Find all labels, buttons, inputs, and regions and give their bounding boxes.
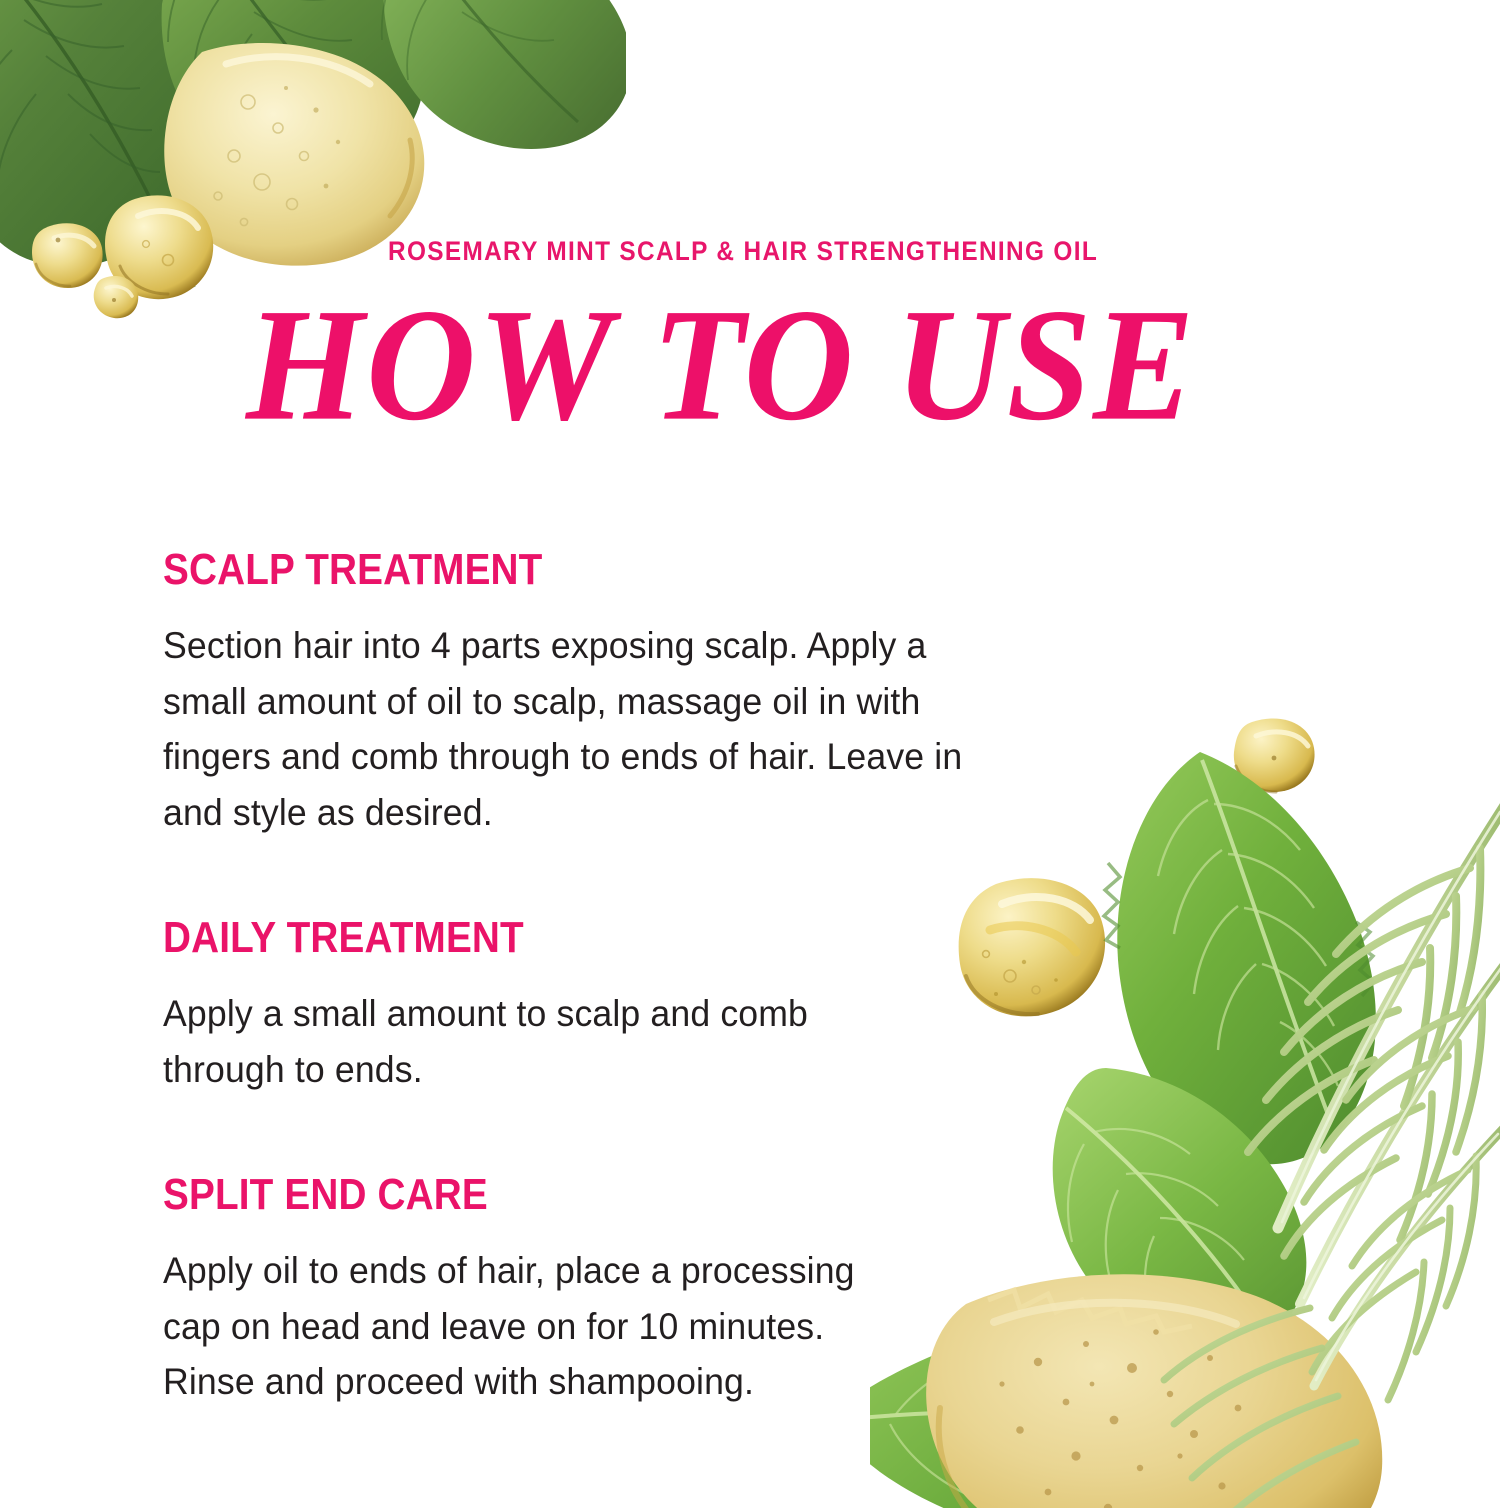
instruction-section-daily-treatment: DAILY TREATMENT Apply a small amount to …: [163, 916, 1063, 1097]
body-line: Apply oil to ends of hair, place a proce…: [163, 1243, 1018, 1299]
section-heading: SCALP TREATMENT: [163, 548, 955, 592]
section-body: Apply oil to ends of hair, place a proce…: [163, 1243, 1018, 1410]
instruction-section-scalp-treatment: SCALP TREATMENT Section hair into 4 part…: [163, 548, 1063, 840]
body-line: small amount of oil to scalp, massage oi…: [163, 674, 1018, 730]
body-line: Section hair into 4 parts exposing scalp…: [163, 618, 1018, 674]
product-name-eyebrow: ROSEMARY MINT SCALP & HAIR STRENGTHENING…: [388, 236, 1098, 267]
body-line: and style as desired.: [163, 785, 1018, 841]
section-heading: SPLIT END CARE: [163, 1173, 955, 1217]
body-line: through to ends.: [163, 1042, 1018, 1098]
section-body: Section hair into 4 parts exposing scalp…: [163, 618, 1018, 840]
body-line: Rinse and proceed with shampooing.: [163, 1354, 1018, 1410]
instruction-section-split-end-care: SPLIT END CARE Apply oil to ends of hair…: [163, 1173, 1063, 1410]
body-line: fingers and comb through to ends of hair…: [163, 729, 1018, 785]
text-content: ROSEMARY MINT SCALP & HAIR STRENGTHENING…: [0, 0, 1500, 1500]
body-line: cap on head and leave on for 10 minutes.: [163, 1299, 1018, 1355]
section-body: Apply a small amount to scalp and comb t…: [163, 986, 1018, 1097]
section-heading: DAILY TREATMENT: [163, 916, 955, 960]
instruction-sections: SCALP TREATMENT Section hair into 4 part…: [163, 548, 1063, 1410]
page-title: HOW TO USE: [246, 284, 1196, 445]
poster-canvas: ROSEMARY MINT SCALP & HAIR STRENGTHENING…: [0, 0, 1500, 1500]
body-line: Apply a small amount to scalp and comb: [163, 986, 1018, 1042]
